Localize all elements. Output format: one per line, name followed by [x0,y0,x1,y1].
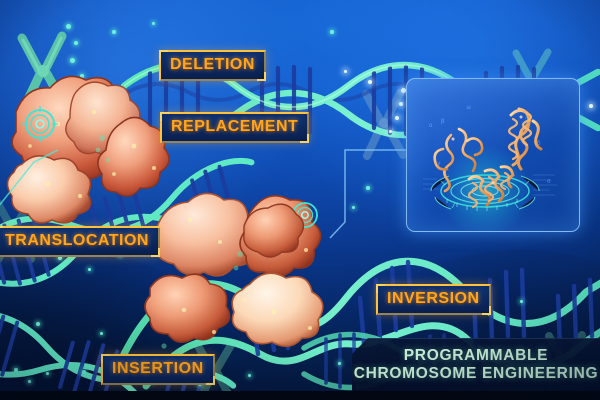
label-corner-accent [151,248,160,257]
label-corner-accent [300,134,309,143]
particle [330,30,334,34]
chromosome-icon [6,30,84,116]
svg-text:α: α [429,122,433,129]
label-corner-accent [101,354,110,363]
particle [74,41,78,45]
callout-label-translocation-text: TRANSLOCATION [5,232,149,249]
particle [80,74,84,78]
protein-structure-hud-panel[interactable]: αβγ λδµ ωσ [406,78,580,232]
title-line-1: PROGRAMMABLE [404,347,548,365]
hud-panel-graphics: αβγ λδµ ωσ [407,79,579,231]
svg-text:σ: σ [547,178,551,185]
particle [399,102,403,106]
bottom-edge-strip [0,391,600,400]
particle [352,206,355,209]
protein-structure-left [2,72,192,222]
particle [395,116,399,120]
particle [248,374,251,377]
particle [338,362,341,365]
particle [28,380,31,383]
callout-label-inversion[interactable]: INVERSION [376,284,491,315]
callout-label-deletion-text: DELETION [170,56,255,73]
callout-label-inversion-text: INVERSION [387,290,480,307]
particle [36,322,40,326]
callout-label-replacement[interactable]: REPLACEMENT [160,112,309,143]
label-corner-accent [0,226,3,235]
label-corner-accent [482,306,491,315]
label-corner-accent [257,72,266,81]
particle [70,58,75,63]
particle [366,186,370,190]
callout-label-replacement-text: REPLACEMENT [171,118,298,135]
target-reticle-icon [288,198,322,237]
svg-text:β: β [441,118,445,125]
title-line-2: CHROMOSOME ENGINEERING [354,365,598,383]
particle [82,370,86,374]
particle [100,332,103,335]
callout-label-translocation[interactable]: TRANSLOCATION [0,226,160,257]
particle [88,268,91,271]
title-banner: PROGRAMMABLE CHROMOSOME ENGINEERING [352,338,600,391]
particle [589,104,593,108]
hud-trace-line [0,128,110,218]
label-corner-accent [159,50,168,59]
callout-label-deletion[interactable]: DELETION [159,50,266,81]
particle [112,30,116,34]
particle [520,300,523,303]
label-corner-accent [206,376,215,385]
callout-label-insertion-text: INSERTION [112,360,204,377]
particle [14,368,18,372]
particle [389,130,392,133]
particle [368,80,372,84]
particle [344,70,347,73]
protein-fragment [236,200,306,260]
particle [46,372,49,375]
illustration-canvas: αβγ λδµ ωσ [0,0,600,400]
label-corner-accent [160,112,169,121]
svg-text:ω: ω [467,104,471,111]
particle [152,22,155,25]
particle [66,24,71,29]
label-corner-accent [376,284,385,293]
callout-label-insertion[interactable]: INSERTION [101,354,215,385]
protein-structure-center [144,180,364,360]
target-reticle-icon [20,104,60,149]
